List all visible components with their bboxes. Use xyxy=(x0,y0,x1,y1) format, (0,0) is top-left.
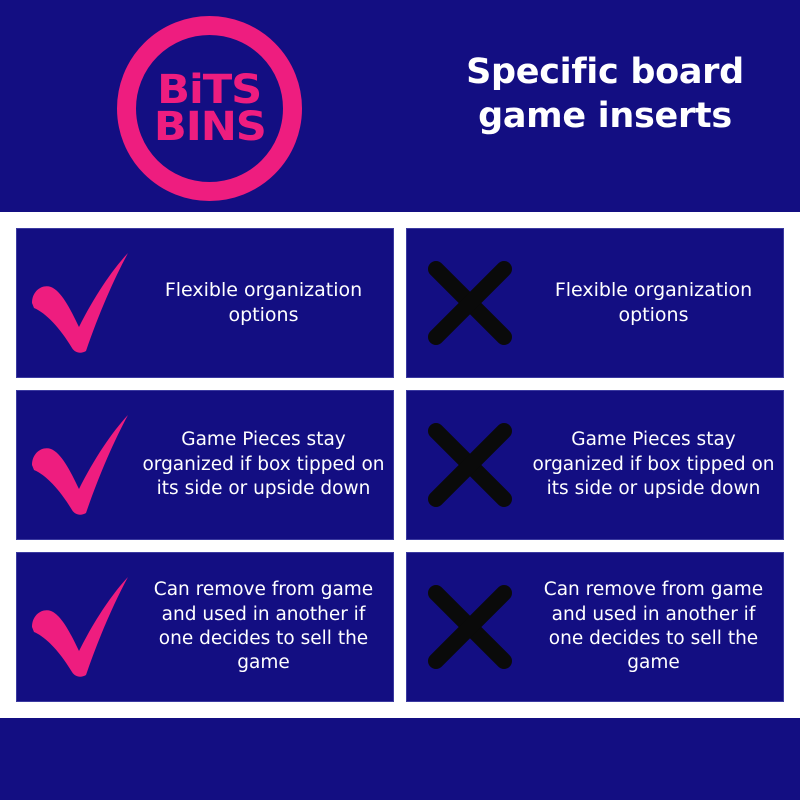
bits-bins-logo: BiTS BINS xyxy=(117,16,302,201)
comparison-cell-text: Flexible organization options xyxy=(142,278,393,328)
comparison-cell-text: Flexible organization options xyxy=(532,278,783,328)
comparison-cell-row3-left: Can remove from game and used in another… xyxy=(16,552,394,702)
cross-icon xyxy=(407,553,532,701)
logo-wordmark: BiTS BINS xyxy=(117,16,302,201)
comparison-cell-row2-left: Game Pieces stay organized if box tipped… xyxy=(16,390,394,540)
comparison-cell-text: Can remove from game and used in another… xyxy=(532,578,783,676)
comparison-cell-text: Can remove from game and used in another… xyxy=(142,578,393,676)
cross-icon xyxy=(407,391,532,539)
comparison-cell-row3-right: Can remove from game and used in another… xyxy=(406,552,784,702)
comparison-cell-row2-right: Game Pieces stay organized if box tipped… xyxy=(406,390,784,540)
footer-band xyxy=(0,718,800,800)
page-title: Specific board game inserts xyxy=(430,50,780,138)
check-icon xyxy=(17,391,142,539)
comparison-cell-row1-right: Flexible organization options xyxy=(406,228,784,378)
header: BiTS BINS Specific board game inserts xyxy=(0,0,800,212)
comparison-cell-text: Game Pieces stay organized if box tipped… xyxy=(532,428,783,501)
check-icon xyxy=(17,229,142,377)
logo-line-2: BINS xyxy=(154,109,266,146)
check-icon xyxy=(17,553,142,701)
comparison-grid: Flexible organization options Flexible o… xyxy=(16,228,784,702)
comparison-cell-row1-left: Flexible organization options xyxy=(16,228,394,378)
comparison-panel: Flexible organization options Flexible o… xyxy=(0,212,800,718)
infographic-page: BiTS BINS Specific board game inserts Fl… xyxy=(0,0,800,800)
cross-icon xyxy=(407,229,532,377)
comparison-cell-text: Game Pieces stay organized if box tipped… xyxy=(142,428,393,501)
